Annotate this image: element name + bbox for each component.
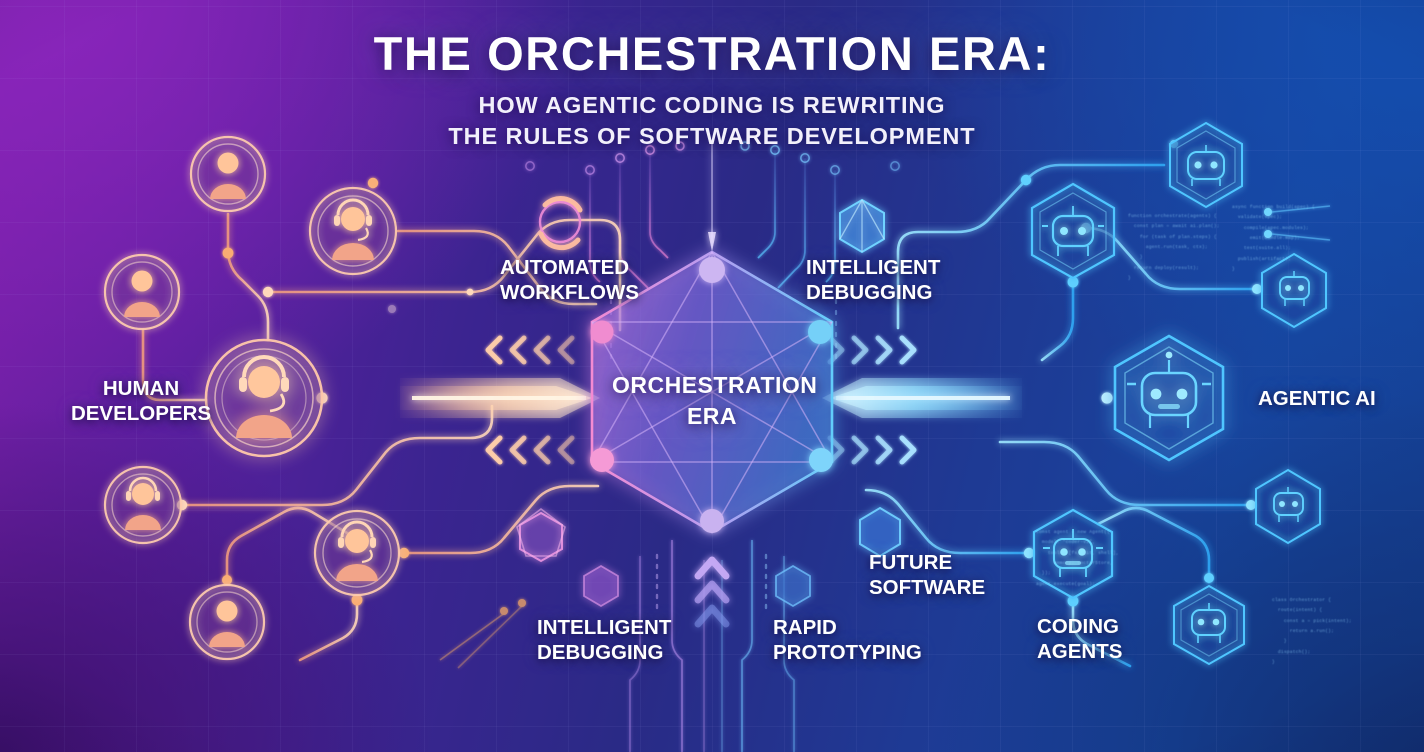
label-intelligent-debugging-bottom: INTELLIGENT DEBUGGING (537, 615, 747, 665)
human-flow-arrow (400, 378, 600, 418)
label-automated-workflows: AUTOMATED WORKFLOWS (500, 255, 700, 305)
header: THE ORCHESTRATION ERA: HOW AGENTIC CODIN… (0, 26, 1424, 151)
core-label-line2: ERA (612, 401, 812, 432)
human-node-h5[interactable] (105, 467, 181, 543)
label-agentic-ai: AGENTIC AI (1258, 386, 1418, 411)
core-label-line1: ORCHESTRATION (612, 370, 812, 401)
ai-node-a5[interactable] (1256, 470, 1320, 543)
code-snippet-decoration-2: async function build(spec) { validate(sp… (1232, 203, 1340, 275)
polyhedron-icon (840, 200, 884, 252)
chevron-right-icon-group-bottom (830, 438, 914, 462)
label-rapid-prototyping: RAPID PROTOTYPING (773, 615, 973, 665)
human-node-h2[interactable] (310, 188, 396, 274)
ai-flow-arrow (822, 378, 1022, 418)
page-subtitle-line1: HOW AGENTIC CODING IS REWRITING (0, 90, 1424, 121)
hexagon-node-icon-future-software (860, 508, 900, 556)
chevron-right-icon-group-top (830, 338, 914, 362)
hexagon-node-icon-bottom-right (776, 566, 810, 606)
human-node-h7[interactable] (190, 585, 264, 659)
hexagon-node-icon-left (517, 509, 565, 561)
ai-node-a4-primary[interactable] (1115, 336, 1223, 460)
hexagon-node-icon-bottom-left (584, 566, 618, 606)
core-label: ORCHESTRATION ERA (612, 370, 812, 431)
human-node-h6[interactable] (315, 511, 399, 595)
ai-node-a2[interactable] (1032, 184, 1114, 278)
page-subtitle: HOW AGENTIC CODING IS REWRITING THE RULE… (0, 90, 1424, 151)
code-snippet-decoration-3: const agent = new Agent({ model: "coder-… (1036, 528, 1144, 590)
label-coding-agents: CODING AGENTS (1037, 614, 1207, 664)
chevron-left-icon-group-top (488, 338, 572, 362)
page-title: THE ORCHESTRATION ERA: (0, 26, 1424, 81)
center-needle-icon (708, 140, 716, 252)
label-intelligent-debugging-top: INTELLIGENT DEBUGGING (806, 255, 1016, 305)
page-subtitle-line2: THE RULES OF SOFTWARE DEVELOPMENT (0, 121, 1424, 152)
human-node-h3[interactable] (105, 255, 179, 329)
label-future-software: FUTURE SOFTWARE (869, 550, 1039, 600)
chevron-left-icon-group-bottom (488, 438, 572, 462)
code-snippet-decoration-4: class Orchestrator { route(intent) { con… (1272, 596, 1380, 668)
infographic-canvas: function orchestrate(agents) { const pla… (0, 0, 1424, 752)
code-snippet-decoration-1: function orchestrate(agents) { const pla… (1128, 212, 1236, 284)
label-human-developers: HUMAN DEVELOPERS (32, 376, 250, 426)
